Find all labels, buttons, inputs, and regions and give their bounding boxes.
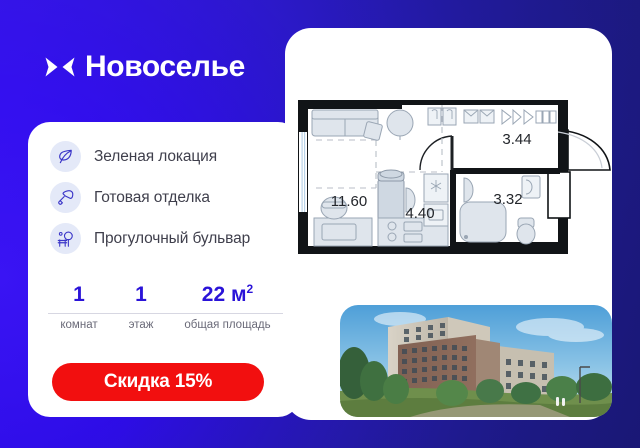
stat-floor-label: этаж (110, 319, 172, 332)
feature-item-green-location: Зеленая локация (50, 141, 290, 172)
stat-area-unit-exponent: 2 (247, 282, 254, 296)
stats-block: 1 1 22 м2 комнат этаж общая площадь (48, 283, 283, 332)
floorplan-drawing: 11.60 4.40 3.44 3.32 (298, 100, 610, 254)
floorplan: 11.60 4.40 3.44 3.32 (292, 96, 617, 261)
x-mark-logo-icon (44, 53, 76, 81)
promo-card: Новоселье Зеленая локация Готовая отд (0, 0, 640, 448)
stat-area-value: 22 м2 (172, 283, 283, 307)
brand-name: Новоселье (85, 52, 245, 82)
leaf-icon (50, 141, 81, 172)
room-area-kitchen: 4.40 (405, 205, 434, 222)
stat-area-label: общая площадь (172, 319, 283, 332)
room-area-hall: 3.44 (502, 131, 531, 148)
brand-logo[interactable]: Новоселье (44, 52, 245, 82)
stat-area-unit: м (231, 283, 247, 306)
feature-label: Готовая отделка (94, 189, 210, 206)
room-area-bathroom: 3.32 (493, 191, 522, 208)
park-bench-tree-icon (50, 223, 81, 254)
header: Новоселье (0, 0, 300, 135)
stat-rooms-label: комнат (48, 319, 110, 332)
stats-values-row: 1 1 22 м2 (48, 283, 283, 307)
stats-labels-row: комнат этаж общая площадь (48, 319, 283, 332)
stats-divider (48, 313, 283, 314)
discount-button[interactable]: Скидка 15% (52, 363, 264, 401)
stat-floor-value: 1 (110, 283, 172, 307)
feature-label: Зеленая локация (94, 148, 217, 165)
feature-item-finished-interior: Готовая отделка (50, 182, 290, 213)
trowel-icon (50, 182, 81, 213)
room-area-living: 11.60 (331, 193, 367, 210)
feature-list: Зеленая локация Готовая отделка (50, 141, 290, 254)
feature-label: Прогулочный бульвар (94, 230, 250, 247)
stat-rooms-value: 1 (48, 283, 110, 307)
stat-area-number: 22 (202, 283, 225, 306)
building-photo (340, 305, 612, 417)
feature-item-boulevard: Прогулочный бульвар (50, 223, 290, 254)
